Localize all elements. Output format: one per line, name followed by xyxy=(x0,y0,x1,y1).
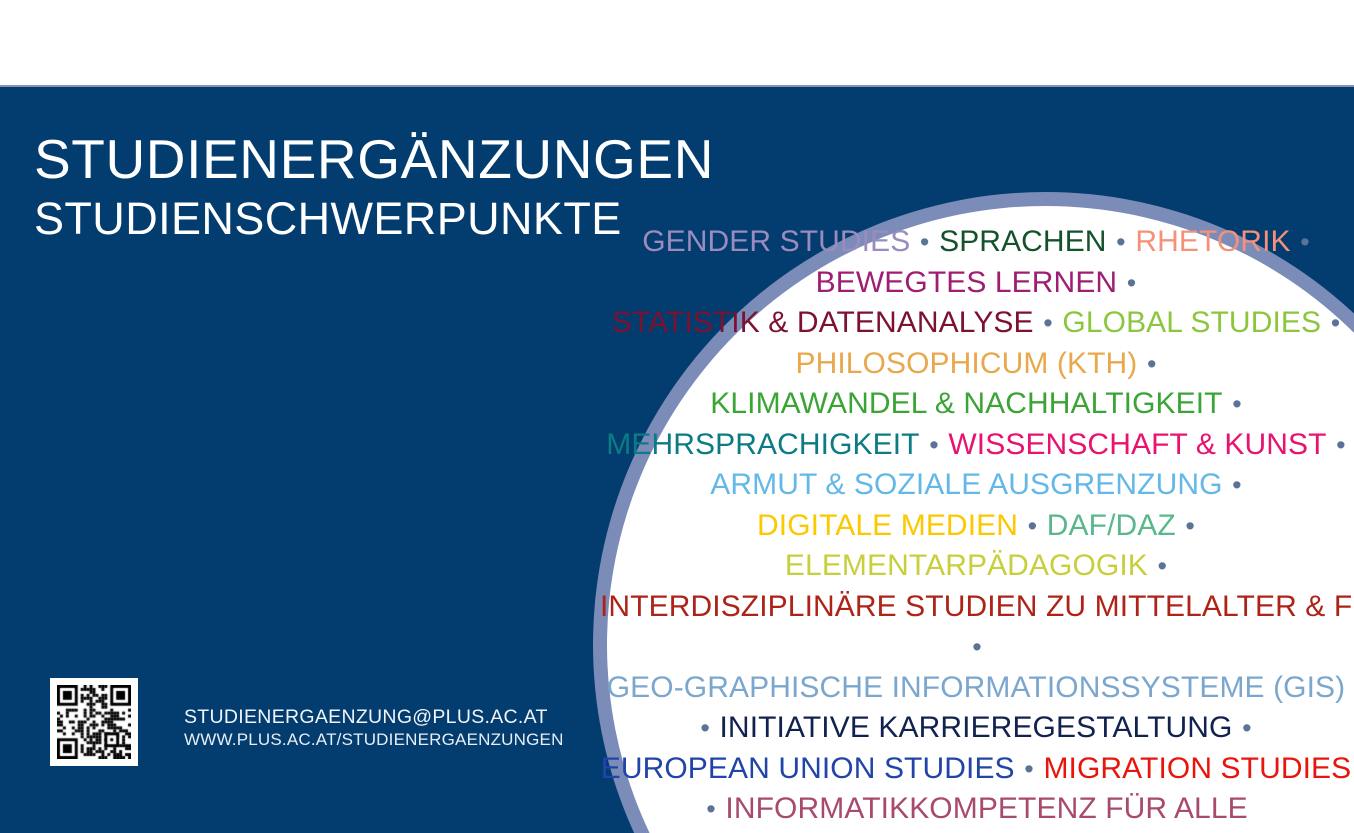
poster-canvas: STUDIENERGÄNZUNGEN STUDIENSCHWERPUNKTE G… xyxy=(0,0,1354,833)
wordcloud-term: BEWEGTES LERNEN xyxy=(816,266,1118,299)
wordcloud-term: DIGITALE MEDIEN xyxy=(757,509,1018,542)
wordcloud-term: ELEMENTARPÄDAGOGIK xyxy=(785,549,1148,582)
contact-email[interactable]: STUDIENERGAENZUNG@PLUS.AC.AT xyxy=(184,705,564,729)
wordcloud-term: MIGRATION STUDIES xyxy=(1043,752,1351,785)
wordcloud-separator: • xyxy=(1327,430,1348,460)
wordcloud-separator: • xyxy=(1117,268,1138,298)
qr-code-image xyxy=(57,685,131,759)
wordcloud-term: STATISTIK & DATENANALYSE xyxy=(612,306,1034,339)
wordcloud-term: GENDER STUDIES xyxy=(642,225,910,258)
panel-top-hairline xyxy=(0,85,1354,87)
wordcloud-term: SPRACHEN xyxy=(939,225,1107,258)
wordcloud-term: DAF/DAZ xyxy=(1047,509,1176,542)
contact-block: STUDIENERGAENZUNG@PLUS.AC.AT WWW.PLUS.AC… xyxy=(50,678,564,766)
wordcloud-term: INTERDISZIPLINÄRE STUDIEN ZU MITTELALTER… xyxy=(600,590,1354,623)
wordcloud-separator: • xyxy=(1137,349,1158,379)
wordcloud-separator: • xyxy=(1034,308,1063,338)
wordcloud-separator: • xyxy=(970,632,984,662)
wordcloud-term: KLIMAWANDEL & NACHHALTIGKEIT xyxy=(710,387,1222,420)
wordcloud-term: EUROPEAN UNION STUDIES xyxy=(601,752,1015,785)
wordcloud-separator: • xyxy=(1223,389,1244,419)
wordcloud-separator: • xyxy=(1148,551,1169,581)
wordcloud-term: RHETORIK xyxy=(1135,225,1290,258)
contact-text-lines: STUDIENERGAENZUNG@PLUS.AC.AT WWW.PLUS.AC… xyxy=(184,678,564,751)
wordcloud-separator: • xyxy=(1015,754,1044,784)
wordcloud-separator: • xyxy=(1321,308,1342,338)
wordcloud-term: GEO-GRAPHISCHE INFORMATIONSSYSTEME (GIS) xyxy=(607,671,1346,704)
wordcloud-separator: • xyxy=(1232,713,1253,743)
wordcloud-separator: • xyxy=(1018,511,1047,541)
wordcloud-separator: • xyxy=(1223,470,1244,500)
program-wordcloud: GENDER STUDIES • SPRACHEN • RHETORIK • B… xyxy=(600,222,1354,830)
wordcloud-separator: • xyxy=(1291,227,1312,257)
page-title: STUDIENERGÄNZUNGEN xyxy=(34,128,714,190)
wordcloud-term: WISSENSCHAFT & KUNST xyxy=(948,428,1326,461)
qr-code[interactable] xyxy=(50,678,138,766)
wordcloud-term: INITIATIVE KARRIEREGESTALTUNG xyxy=(720,711,1233,744)
wordcloud-separator: • xyxy=(920,430,949,460)
wordcloud-term: INFORMATIKKOMPETENZ FÜR ALLE xyxy=(725,792,1247,825)
wordcloud-term: ARMUT & SOZIALE AUSGRENZUNG xyxy=(710,468,1222,501)
wordcloud-term: PHILOSOPHICUM (KTH) xyxy=(795,347,1137,380)
wordcloud-separator: • xyxy=(1107,227,1136,257)
wordcloud-term: MEHRSPRACHIGKEIT xyxy=(606,428,919,461)
wordcloud-separator: • xyxy=(1176,511,1197,541)
wordcloud-separator: • xyxy=(910,227,939,257)
contact-website[interactable]: WWW.PLUS.AC.AT/STUDIENERGAENZUNGEN xyxy=(184,729,564,751)
wordcloud-term: GLOBAL STUDIES xyxy=(1062,306,1321,339)
